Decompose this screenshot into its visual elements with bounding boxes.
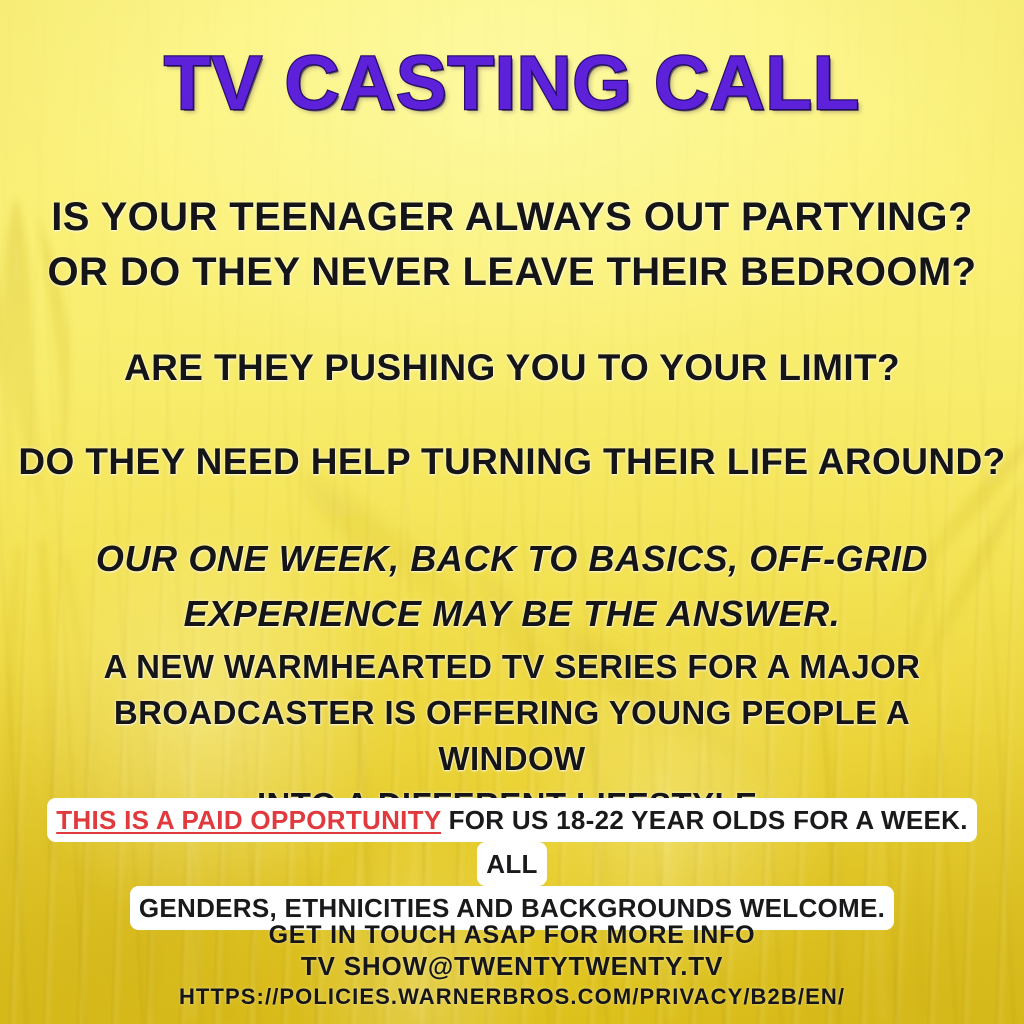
- question-three-text: DO THEY NEED HELP TURNING THEIR LIFE ARO…: [0, 437, 1024, 487]
- pitch-line-two: EXPERIENCE MAY BE THE ANSWER.: [0, 586, 1024, 641]
- question-two-text: ARE THEY PUSHING YOU TO YOUR LIMIT?: [0, 343, 1024, 393]
- poster-content: TV CASTING CALL IS YOUR TEENAGER ALWAYS …: [0, 0, 1024, 1024]
- privacy-policy-url[interactable]: HTTPS://POLICIES.WARNERBROS.COM/PRIVACY/…: [0, 982, 1024, 1012]
- casting-call-poster: TV CASTING CALL IS YOUR TEENAGER ALWAYS …: [0, 0, 1024, 1024]
- question-one-line-one: IS YOUR TEENAGER ALWAYS OUT PARTYING?: [0, 190, 1024, 245]
- contact-email[interactable]: TV SHOW@TWENTYTWENTY.TV: [0, 950, 1024, 982]
- question-block-one: IS YOUR TEENAGER ALWAYS OUT PARTYING? OR…: [0, 190, 1024, 300]
- question-one-line-two: OR DO THEY NEVER LEAVE THEIR BEDROOM?: [0, 245, 1024, 300]
- paid-opportunity-highlight: THIS IS A PAID OPPORTUNITY: [56, 805, 441, 835]
- pitch-statement: OUR ONE WEEK, BACK TO BASICS, OFF-GRID E…: [0, 531, 1024, 641]
- paid-eligibility-text: FOR US 18-22 YEAR OLDS FOR A WEEK. ALL: [441, 805, 968, 879]
- footer-call-to-action: GET IN TOUCH ASAP FOR MORE INFO: [0, 920, 1024, 950]
- paid-opportunity-callout: THIS IS A PAID OPPORTUNITY FOR US 18-22 …: [0, 798, 1024, 930]
- about-line-one: A NEW WARMHEARTED TV SERIES FOR A MAJOR: [52, 644, 972, 690]
- about-line-two: BROADCASTER IS OFFERING YOUNG PEOPLE A W…: [52, 690, 972, 782]
- paid-inclusivity-text: GENDERS, ETHNICITIES AND BACKGROUNDS WEL…: [139, 893, 885, 923]
- pitch-line-one: OUR ONE WEEK, BACK TO BASICS, OFF-GRID: [0, 531, 1024, 586]
- paid-callout-line-one: THIS IS A PAID OPPORTUNITY FOR US 18-22 …: [30, 798, 994, 886]
- contact-footer: GET IN TOUCH ASAP FOR MORE INFO TV SHOW@…: [0, 920, 1024, 1012]
- question-block-three: DO THEY NEED HELP TURNING THEIR LIFE ARO…: [0, 437, 1024, 487]
- page-title: TV CASTING CALL: [0, 46, 1024, 122]
- question-block-two: ARE THEY PUSHING YOU TO YOUR LIMIT?: [0, 343, 1024, 393]
